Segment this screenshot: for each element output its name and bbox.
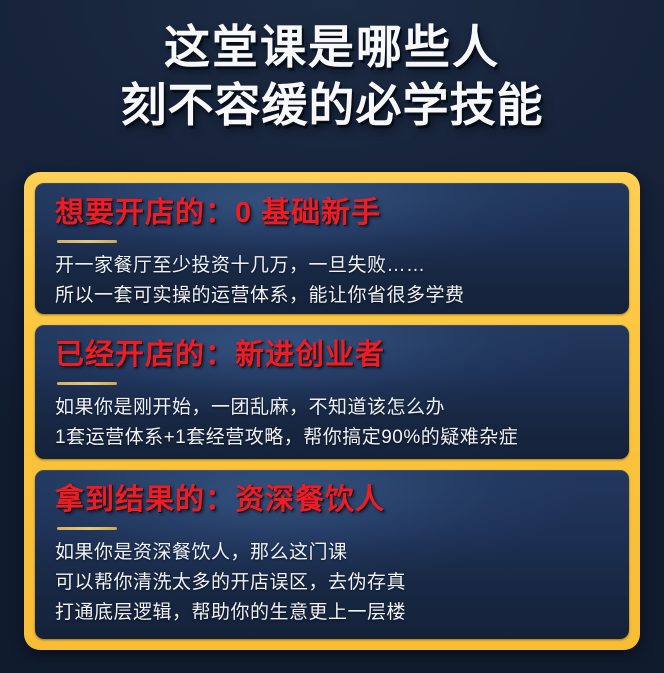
audience-card-beginner: 想要开店的：0 基础新手 开一家餐厅至少投资十几万，一旦失败…… 所以一套可实操… — [35, 183, 629, 314]
audience-card-frame: 想要开店的：0 基础新手 开一家餐厅至少投资十几万，一旦失败…… 所以一套可实操… — [24, 172, 640, 650]
title-divider-rule — [57, 527, 117, 530]
body-line: 所以一套可实操的运营体系，能让你省很多学费 — [55, 281, 609, 311]
body-line: 开一家餐厅至少投资十几万，一旦失败…… — [55, 251, 609, 281]
page-title: 这堂课是哪些人 刻不容缓的必学技能 — [0, 18, 664, 134]
body-line: 如果你是刚开始，一团乱麻，不知道该怎么办 — [55, 393, 609, 423]
audience-card-veteran: 拿到结果的：资深餐饮人 如果你是资深餐饮人，那么这门课 可以帮你清洗太多的开店误… — [35, 470, 629, 639]
audience-card-title: 想要开店的：0 基础新手 — [55, 193, 609, 233]
audience-card-body: 开一家餐厅至少投资十几万，一旦失败…… 所以一套可实操的运营体系，能让你省很多学… — [55, 251, 609, 311]
audience-card-new-entrepreneur: 已经开店的：新进创业者 如果你是刚开始，一团乱麻，不知道该怎么办 1套运营体系+… — [35, 325, 629, 460]
audience-card-title: 拿到结果的：资深餐饮人 — [55, 480, 609, 520]
audience-card-body: 如果你是刚开始，一团乱麻，不知道该怎么办 1套运营体系+1套经营攻略，帮你搞定9… — [55, 393, 609, 453]
promo-poster: 这堂课是哪些人 刻不容缓的必学技能 想要开店的：0 基础新手 开一家餐厅至少投资… — [0, 0, 664, 673]
page-title-line-2: 刻不容缓的必学技能 — [30, 76, 634, 134]
body-line: 如果你是资深餐饮人，那么这门课 — [55, 538, 609, 568]
body-line: 可以帮你清洗太多的开店误区，去伪存真 — [55, 568, 609, 598]
audience-card-title: 已经开店的：新进创业者 — [55, 335, 609, 375]
title-divider-rule — [57, 240, 117, 243]
page-title-line-1: 这堂课是哪些人 — [30, 18, 634, 76]
title-divider-rule — [57, 382, 117, 385]
audience-card-body: 如果你是资深餐饮人，那么这门课 可以帮你清洗太多的开店误区，去伪存真 打通底层逻… — [55, 538, 609, 628]
body-line: 1套运营体系+1套经营攻略，帮你搞定90%的疑难杂症 — [55, 423, 609, 453]
body-line: 打通底层逻辑，帮助你的生意更上一层楼 — [55, 598, 609, 628]
